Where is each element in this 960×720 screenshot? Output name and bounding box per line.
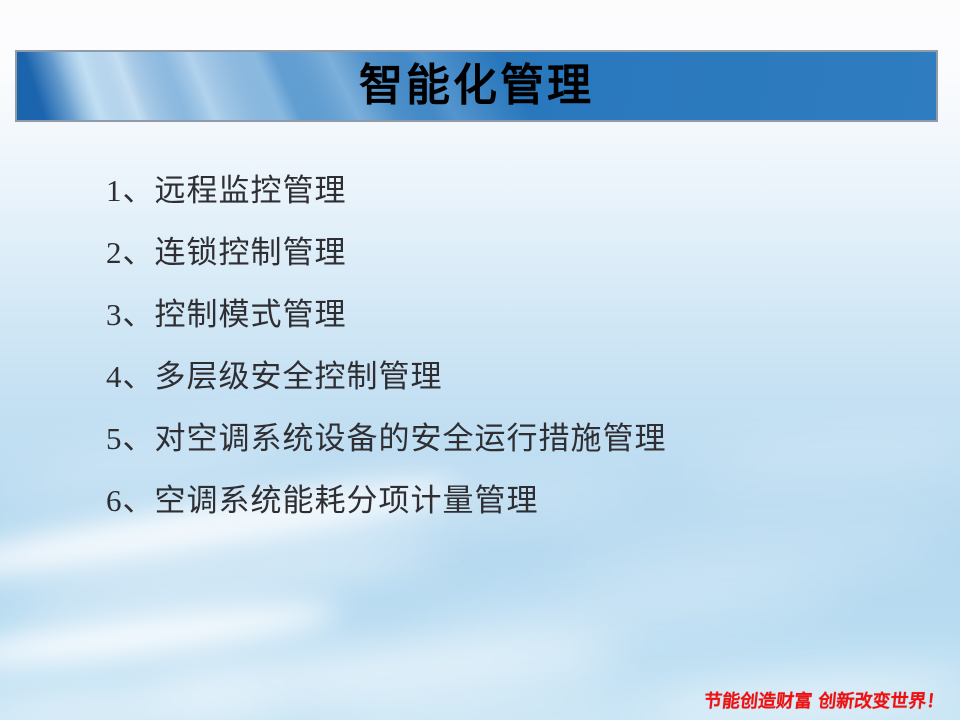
list-item-label: 空调系统能耗分项计量管理 [155,483,539,519]
cloud-shape [329,680,630,720]
cloud-shape [420,574,841,648]
list-item-number: 1、 [106,173,155,208]
list-item: 6、空调系统能耗分项计量管理 [106,470,866,532]
list-item-label: 控制模式管理 [155,297,347,333]
list-item-label: 多层级安全控制管理 [155,359,443,395]
list-item-number: 2、 [106,235,155,270]
footer-slogan: 节能创造财富 创新改变世界！ [703,692,945,712]
presentation-slide: 智能化管理 1、远程监控管理 2、连锁控制管理 3、控制模式管理 4、多层级安全… [0,0,960,720]
content-list: 1、远程监控管理 2、连锁控制管理 3、控制模式管理 4、多层级安全控制管理 5… [106,160,866,532]
list-item: 3、控制模式管理 [106,284,866,346]
slide-title: 智能化管理 [17,64,936,108]
cloud-shape [149,624,621,717]
list-item: 1、远程监控管理 [106,160,866,222]
cloud-shape [10,530,441,624]
list-item: 2、连锁控制管理 [106,222,866,284]
list-item: 4、多层级安全控制管理 [106,346,866,408]
cloud-shape [0,592,341,678]
title-banner: 智能化管理 [15,50,938,122]
list-item-number: 5、 [106,421,155,456]
list-item: 5、对空调系统设备的安全运行措施管理 [106,408,866,470]
list-item-label: 远程监控管理 [155,173,347,209]
cloud-shape [0,680,271,720]
list-item-label: 对空调系统设备的安全运行措施管理 [155,421,667,457]
list-item-number: 4、 [106,359,155,394]
list-item-label: 连锁控制管理 [155,235,347,271]
list-item-number: 3、 [106,297,155,332]
cloud-shape [560,523,941,582]
list-item-number: 6、 [106,483,155,518]
